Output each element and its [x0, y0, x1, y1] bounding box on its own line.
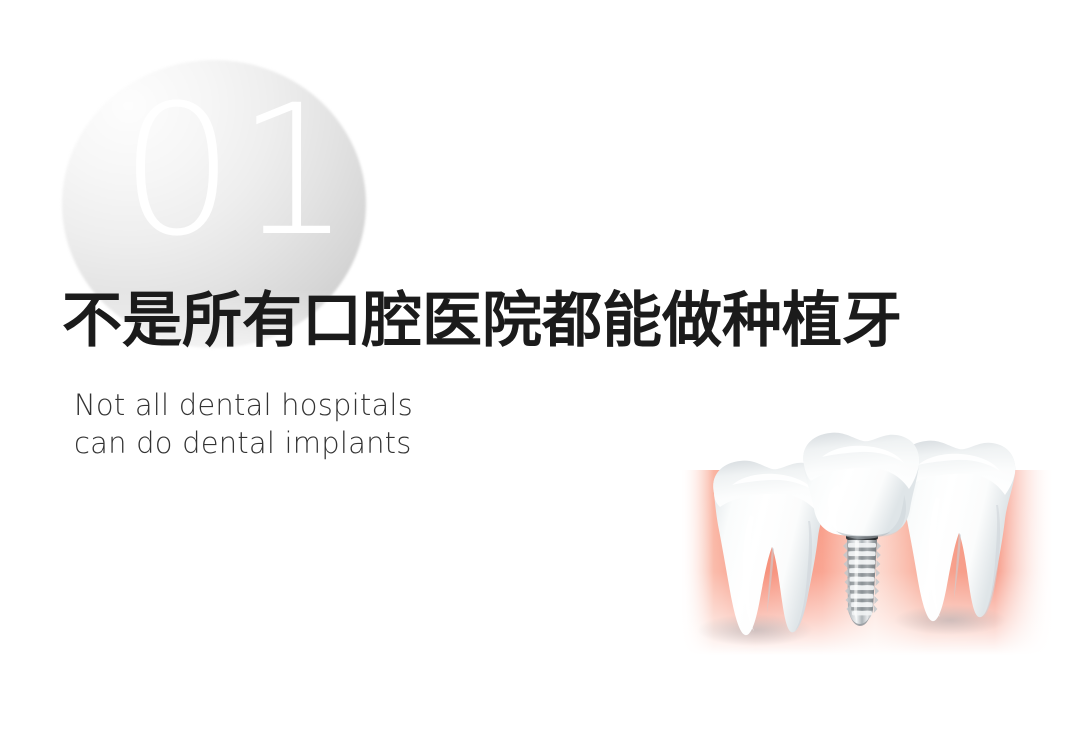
page-subtitle: Not all dental hospitals can do dental i… — [74, 386, 413, 463]
badge-number: 01 — [120, 82, 320, 262]
dental-implant-illustration — [660, 425, 1060, 690]
subtitle-line-1: Not all dental hospitals — [74, 386, 413, 424]
tooth-center-implant-crown — [803, 433, 919, 539]
page-title: 不是所有口腔医院都能做种植牙 — [62, 288, 902, 355]
subtitle-line-2: can do dental implants — [74, 424, 413, 462]
